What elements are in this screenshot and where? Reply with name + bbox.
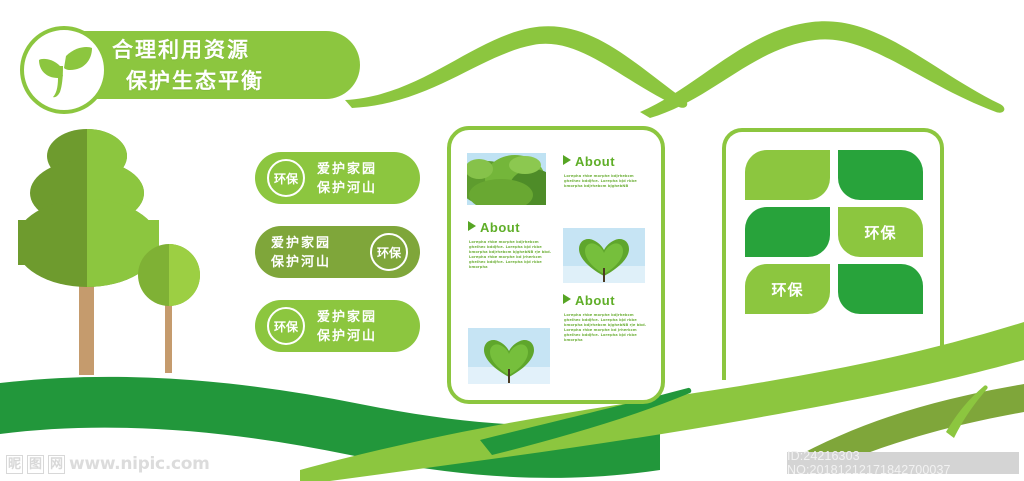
about-heading: About — [468, 220, 520, 235]
badge-slogan: 爱护家园 保护河山 — [317, 159, 377, 197]
mountain-curve-2 — [640, 21, 1004, 118]
mountain-curve-1 — [345, 26, 687, 108]
about-body-text: Lorepha rhbe morphe bdjrhebcm ghelhec bd… — [469, 240, 555, 271]
big-tree-trunk — [79, 283, 94, 375]
badge-slogan-line-1: 爱护家园 — [271, 233, 331, 252]
big-tree-canopy — [18, 129, 159, 287]
badge-slogan-line-2: 保护河山 — [317, 326, 377, 345]
watermark-url: www.nipic.com — [69, 454, 210, 474]
sprout-icon — [20, 26, 108, 114]
about-heading: About — [563, 154, 615, 169]
photo-tree-canopy — [467, 153, 546, 205]
watermark-char: 网 — [48, 455, 65, 474]
badge-slogan-line-1: 爱护家园 — [317, 159, 377, 178]
badge-slogan-line-2: 保护河山 — [317, 178, 377, 197]
badge-slogan-line-1: 爱护家园 — [317, 307, 377, 326]
tree-illustration — [18, 125, 248, 390]
about-heading: About — [563, 293, 615, 308]
badge-slogan: 爱护家园 保护河山 — [317, 307, 377, 345]
title-line-1: 合理利用资源 — [112, 39, 250, 62]
title-text: 合理利用资源 保护生态平衡 — [112, 35, 362, 97]
watermark-char: 昵 — [6, 455, 23, 474]
eco-circle-label: 环保 — [370, 233, 408, 271]
play-triangle-icon — [563, 155, 571, 165]
badge-slogan-line-2: 保护河山 — [271, 252, 331, 271]
eco-circle-label: 环保 — [267, 159, 305, 197]
watermark-char: 图 — [27, 455, 44, 474]
badge-row-3[interactable]: 环保 爱护家园 保护河山 — [255, 300, 420, 352]
badge-row-2[interactable]: 环保 爱护家园 保护河山 — [255, 226, 420, 278]
eco-circle-label: 环保 — [267, 307, 305, 345]
leaf-tile[interactable] — [838, 150, 923, 200]
photo-heart-tree — [468, 328, 550, 384]
about-body-text: Lorepha rhbe morphe bdjrhebcm ghelhec bd… — [564, 313, 650, 344]
leaf-tile[interactable]: 环保 — [745, 264, 830, 314]
leaf-grid: 环保 环保 — [745, 150, 923, 315]
leaf-tile[interactable] — [838, 264, 923, 314]
small-tree-canopy — [138, 244, 200, 306]
play-triangle-icon — [563, 294, 571, 304]
about-body-text: Lorepha rhbe morphe bdjrhebcm ghelhec bd… — [564, 174, 650, 189]
image-id-badge: ID:24216303 NO:20181212171842700037 — [787, 452, 1019, 474]
center-content-panel: About Lorepha rhbe morphe bdjrhebcm ghel… — [447, 126, 665, 404]
badge-slogan: 爱护家园 保护河山 — [271, 233, 331, 271]
leaf-tile[interactable] — [745, 150, 830, 200]
small-tree-trunk — [165, 303, 172, 373]
poster-canvas: 合理利用资源 保护生态平衡 — [0, 0, 1024, 481]
leaf-tile[interactable]: 环保 — [838, 207, 923, 257]
play-triangle-icon — [468, 221, 476, 231]
badge-row-1[interactable]: 环保 爱护家园 保护河山 — [255, 152, 420, 204]
leaf-tile[interactable] — [745, 207, 830, 257]
watermark-logo: 昵 图 网 www.nipic.com — [6, 452, 210, 476]
title-line-2: 保护生态平衡 — [112, 66, 362, 97]
photo-heart-tree — [563, 228, 645, 283]
